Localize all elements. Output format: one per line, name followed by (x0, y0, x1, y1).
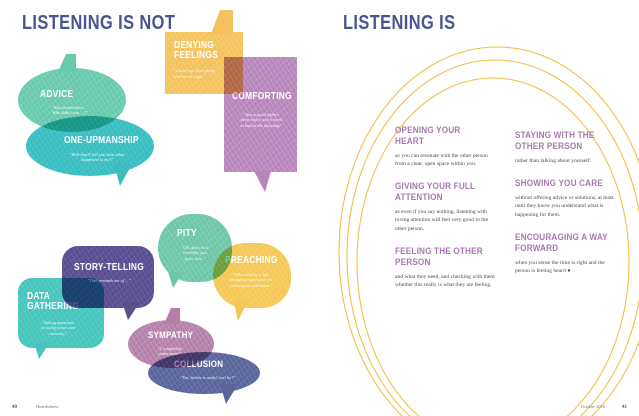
bubble-tail (220, 384, 238, 404)
bubble-quote: "Oh, dear, how horrible, you poor love." (172, 245, 218, 261)
bubble-quote: "Well that'll tell you hear what happene… (66, 152, 128, 163)
entry-body: when you sense the time is right and the… (515, 259, 619, 276)
bubble-tail (114, 164, 132, 186)
entry-encouraging-a-way-forward: ENCOURAGING A WAY FORWARD when you sense… (515, 233, 627, 275)
bubble-tail (254, 171, 271, 192)
bubble-quote: "This could be a life- changing experien… (222, 272, 280, 288)
bubble-label: COMFORTING (232, 92, 292, 102)
page-number-right: 41 (622, 405, 627, 410)
entry-heading: SHOWING YOU CARE (515, 179, 611, 190)
entry-body: as even if you say nothing, listening wi… (395, 208, 499, 233)
bubble-tail (233, 299, 249, 321)
bubble-tail (58, 54, 76, 72)
bubble-quote: "Just a good night's sleep and it won't … (235, 112, 287, 128)
bubble-tail (168, 272, 183, 288)
entry-body: without offering advice or solutions, at… (515, 194, 619, 219)
entry-body: so you can resonate with the other perso… (395, 152, 499, 169)
page-title-listening-is-not: LISTENING IS NOT (22, 12, 175, 35)
entry-showing-you-care: SHOWING YOU CARE without offering advice… (515, 179, 627, 219)
entry-heading: STAYING WITH THE OTHER PERSON (515, 131, 611, 153)
footer-right-text: October 2016 (581, 404, 605, 409)
entry-body: and what they need, and checking with th… (395, 273, 499, 290)
bubble-label: PITY (177, 229, 197, 239)
right-page: LISTENING IS OPENING YOUR HEART so you c… (319, 0, 639, 416)
right-column-right: STAYING WITH THE OTHER PERSON rather tha… (515, 131, 627, 289)
footer-left-text: Heartfulness (36, 404, 58, 409)
bubble-collusion: COLLUSION "Yes, he/she is awful, isn't h… (148, 352, 260, 394)
entry-giving-your-full-attention: GIVING YOUR FULL ATTENTION as even if yo… (395, 182, 507, 233)
bubble-preaching: PREACHING "This could be a life- changin… (213, 243, 291, 308)
spread: LISTENING IS NOT DENYING FEELINGS "Cheer… (0, 0, 639, 416)
right-column-left: OPENING YOUR HEART so you can resonate w… (395, 126, 507, 304)
page-number-left: 40 (12, 405, 17, 410)
bubble-label: COLLUSION (174, 360, 223, 370)
bubble-shape (18, 278, 104, 348)
bubble-quote: "You should have ... Why didn't you ...?… (36, 105, 104, 116)
left-page: LISTENING IS NOT DENYING FEELINGS "Cheer… (0, 0, 319, 416)
entry-body: rather than talking about yourself. (515, 157, 619, 165)
bubble-quote: "Yes, he/she is awful, isn't he?" (170, 375, 246, 380)
bubble-quote: "Cheer up. Everything will be all right.… (174, 68, 215, 79)
bubble-label: DENYING FEELINGS (174, 41, 218, 61)
bubble-tail (211, 10, 233, 34)
bubble-tail (164, 308, 180, 324)
bubble-data-gathering: DATA GATHERING "Asking questions to sati… (18, 278, 104, 348)
bubble-label: DATA GATHERING (27, 292, 79, 312)
footer-left: 40 Heartfulness (12, 404, 58, 410)
entry-heading: ENCOURAGING A WAY FORWARD (515, 233, 611, 255)
entry-opening-your-heart: OPENING YOUR HEART so you can resonate w… (395, 126, 507, 168)
entry-heading: OPENING YOUR HEART (395, 126, 491, 148)
bubble-one-upmanship: ONE-UPMANSHIP "Well that'll tell you hea… (26, 116, 154, 176)
bubble-label: ADVICE (40, 90, 73, 100)
bubble-quote: "Asking questions to satisfy your own cu… (27, 320, 89, 336)
bubble-tail (122, 302, 140, 320)
entry-staying-with-the-other-person: STAYING WITH THE OTHER PERSON rather tha… (515, 131, 627, 165)
bubble-label: PREACHING (225, 256, 278, 266)
entry-heading: GIVING YOUR FULL ATTENTION (395, 182, 491, 204)
entry-feeling-the-other-person: FEELING THE OTHER PERSON and what they n… (395, 247, 507, 289)
entry-heading: FEELING THE OTHER PERSON (395, 247, 491, 269)
bubble-comforting: COMFORTING "Just a good night's sleep an… (224, 57, 297, 172)
bubble-label: STORY-TELLING (74, 263, 144, 273)
bubble-label: SYMPATHY (148, 331, 193, 341)
bubble-label: ONE-UPMANSHIP (64, 136, 139, 146)
bubble-tail (34, 342, 50, 359)
footer-right: October 2016 41 (581, 404, 627, 410)
